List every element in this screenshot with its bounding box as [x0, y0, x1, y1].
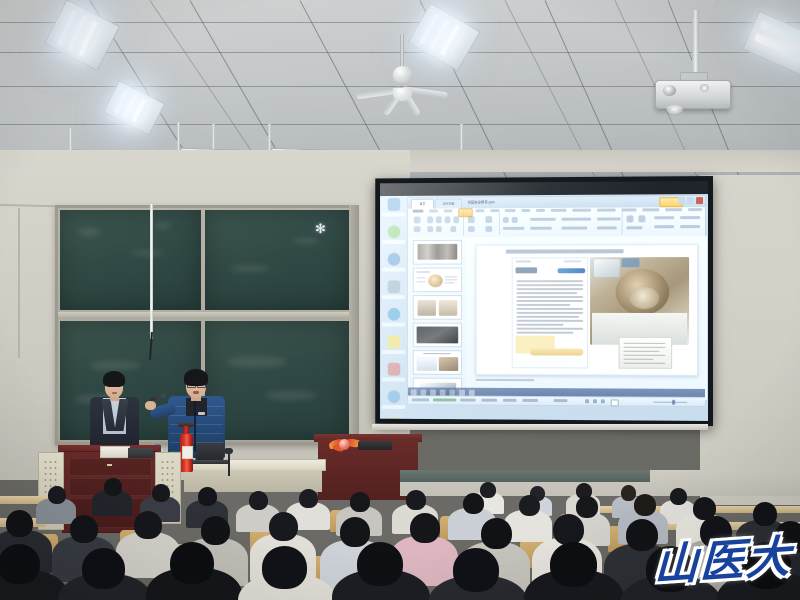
watermark: 山医大 — [653, 535, 792, 589]
board-pointer-rod — [150, 204, 153, 339]
jacket-logo — [198, 412, 205, 415]
screen-mount-bar — [372, 424, 708, 430]
fire-extinguisher-label — [182, 446, 193, 459]
fluorescent-panel-light — [742, 11, 800, 75]
laptop-screen — [195, 443, 224, 461]
podium-monitor — [128, 448, 153, 458]
hair — [103, 371, 125, 387]
chalkboard-panel — [205, 321, 349, 440]
snowflake-decal: ✻ — [315, 222, 326, 235]
mouth — [193, 391, 199, 394]
chalkboard-edge — [349, 205, 359, 445]
chalkboard-panel: ✻ — [205, 210, 349, 310]
fluorescent-panel-light — [44, 0, 120, 71]
laptop-base — [192, 460, 228, 464]
screen-bezel — [375, 176, 713, 426]
av-receiver — [358, 441, 392, 450]
podium-equipment — [100, 446, 130, 458]
hair — [184, 369, 208, 386]
fluorescent-panel-light — [407, 3, 480, 72]
red-decoration — [329, 437, 359, 451]
microphone — [224, 448, 233, 454]
projection-screen[interactable]: 首页 演示文稿 校园安全教育.pptx — [375, 176, 713, 426]
lecture-hall-photo: ✻ — [0, 0, 800, 600]
chalkboard-panel — [60, 210, 201, 310]
hand — [145, 401, 156, 410]
wall-right — [700, 175, 800, 505]
fluorescent-panel-light — [103, 80, 166, 136]
